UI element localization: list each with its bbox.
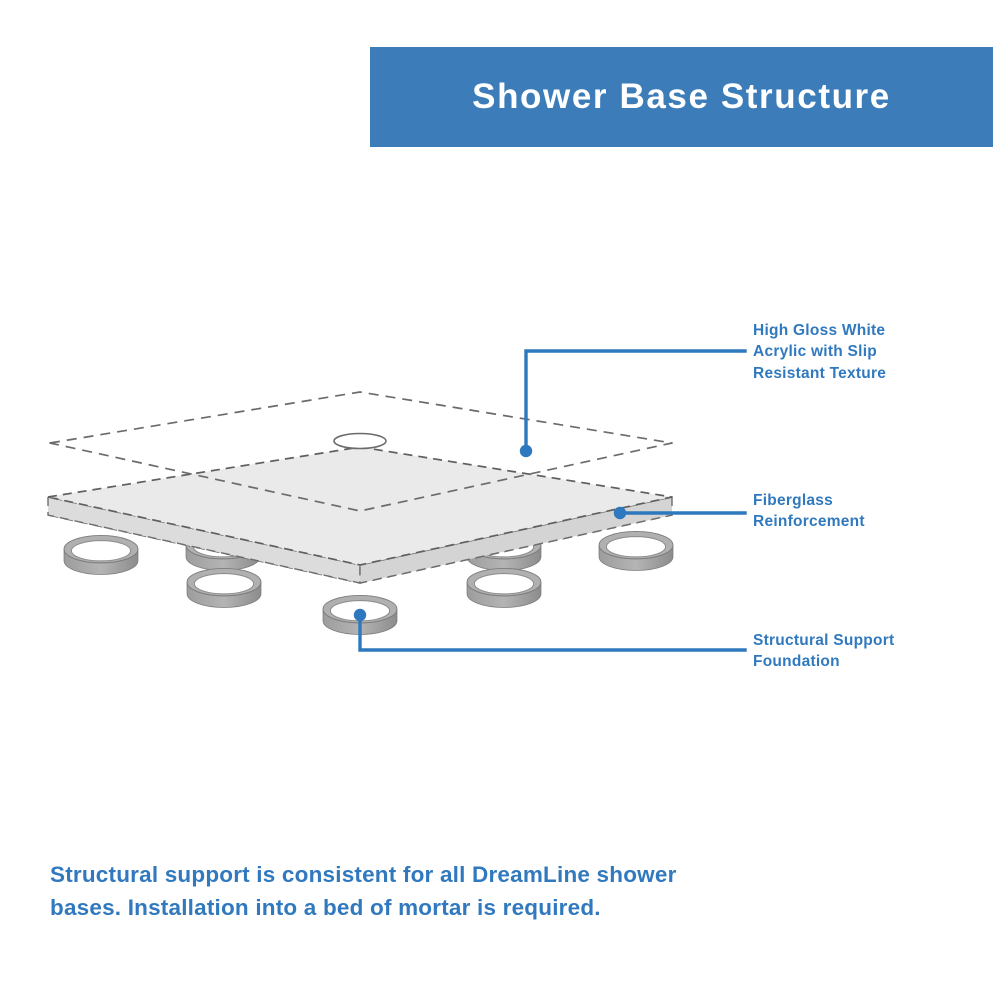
callout-dot-fiberglass: [614, 507, 626, 519]
support-ring: [599, 531, 673, 570]
callout-label-acrylic: High Gloss White Acrylic with Slip Resis…: [753, 320, 963, 384]
footer-caption: Structural support is consistent for all…: [50, 858, 690, 925]
callout-label-fiberglass: Fiberglass Reinforcement: [753, 490, 963, 533]
support-ring: [187, 568, 261, 607]
support-ring: [467, 568, 541, 607]
drain-opening: [334, 434, 386, 449]
callout-dot-acrylic: [520, 445, 532, 457]
leader-line-support: [360, 615, 745, 650]
callout-dot-support: [354, 609, 366, 621]
support-ring: [64, 535, 138, 574]
leader-line-acrylic: [526, 351, 745, 451]
fiberglass-slab: [48, 447, 672, 583]
callout-label-support: Structural Support Foundation: [753, 630, 963, 673]
